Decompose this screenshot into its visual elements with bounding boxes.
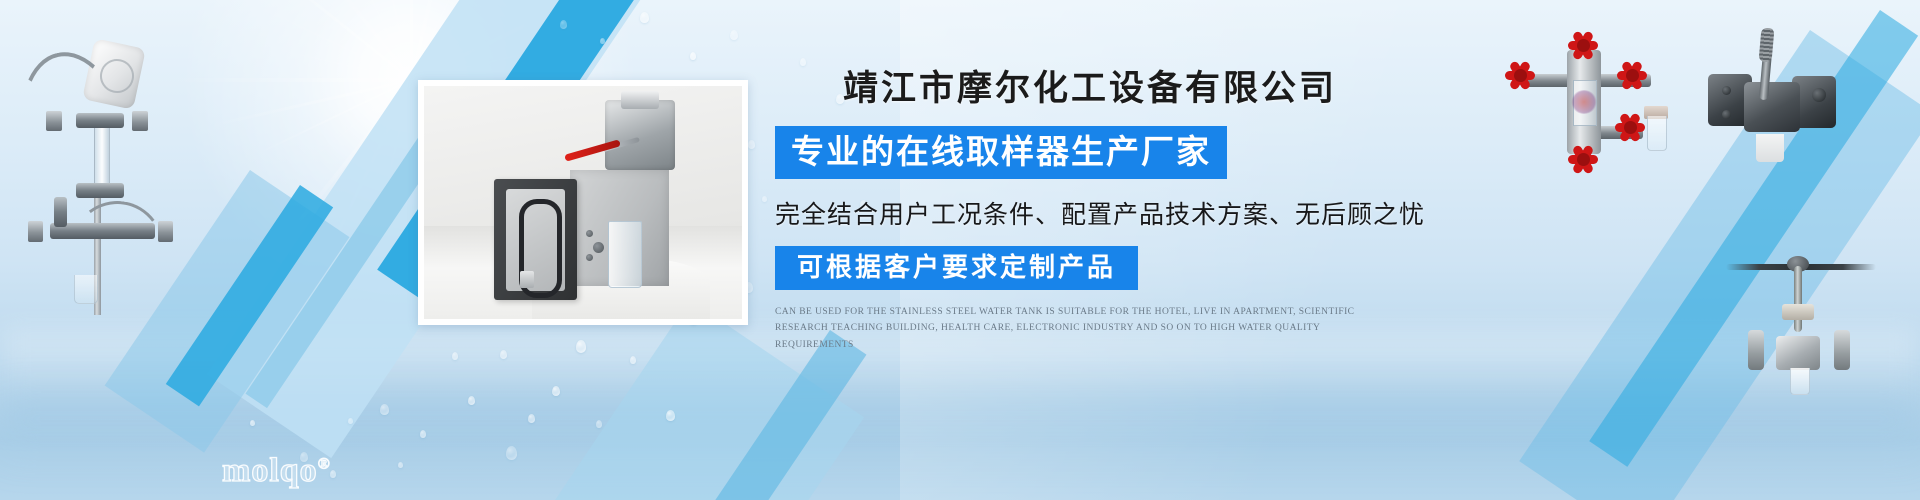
inline-valve-body <box>1776 336 1820 370</box>
water-drop <box>330 470 336 478</box>
cabinet-port-2 <box>586 254 593 261</box>
product-image-pole-sampler <box>10 25 185 315</box>
product-photo-cabinet-sampler <box>418 80 748 325</box>
tagline-badge: 可根据客户要求定制产品 <box>775 246 1138 290</box>
sun-ray <box>258 45 410 81</box>
banner-text-block: 靖江市摩尔化工设备有限公司 专业的在线取样器生产厂家 完全结合用户工况条件、配置… <box>775 70 1405 353</box>
flange-bore <box>1812 88 1826 102</box>
sun-ray <box>237 0 412 81</box>
sampler-relief-valve <box>54 197 67 227</box>
sun-ray <box>325 0 414 81</box>
water-drop <box>730 30 738 40</box>
sun-ray <box>335 0 411 80</box>
cabinet-door <box>494 179 577 300</box>
headline-badge: 专业的在线取样器生产厂家 <box>775 126 1227 179</box>
sun-ray <box>163 78 412 82</box>
sun-ray <box>363 0 412 80</box>
photo-content <box>424 86 742 319</box>
water-drop <box>398 462 403 468</box>
inline-valve-outlet-tube <box>1790 368 1810 395</box>
brand-seal-icon <box>1571 90 1597 114</box>
lever-valve-body <box>1744 82 1800 132</box>
promotional-banner: 靖江市摩尔化工设备有限公司 专业的在线取样器生产厂家 完全结合用户工况条件、配置… <box>0 0 1920 500</box>
water-drop <box>640 12 649 23</box>
lever-valve-knurled-grip <box>1759 27 1775 62</box>
company-name: 靖江市摩尔化工设备有限公司 <box>775 70 1405 109</box>
water-drop <box>690 52 696 60</box>
water-drop <box>800 58 806 66</box>
water-drop <box>748 140 755 149</box>
cabinet-port-3 <box>593 242 604 253</box>
cabinet-door-latch <box>520 271 533 288</box>
handwheel-top <box>1568 30 1598 60</box>
cabinet-sample-bottle <box>608 221 642 288</box>
sampler-sample-bottle <box>74 275 98 304</box>
flange-bolt-hole-2 <box>1722 110 1731 119</box>
lever-valve-sample-cup <box>1756 134 1784 162</box>
watermark-logo: molqo® <box>222 452 331 490</box>
sampler-flange-bottom-left <box>28 221 43 242</box>
inline-valve-wing-left <box>1748 330 1764 370</box>
sampler-flange-right <box>132 111 148 131</box>
cross-valve-sample-bottle <box>1647 116 1667 151</box>
inline-valve-collar <box>1782 304 1814 320</box>
inline-valve-stem <box>1794 266 1802 332</box>
handwheel-bottom <box>1568 144 1598 174</box>
english-description: CAN BE USED FOR THE STAINLESS STEEL WATE… <box>775 304 1385 354</box>
sub-headline: 完全结合用户工况条件、配置产品技术方案、无后顾之忧 <box>775 195 1405 231</box>
product-image-inline-valve <box>1742 228 1862 388</box>
sampling-valve-assembly <box>605 100 675 170</box>
registered-mark-icon: ® <box>318 456 331 473</box>
product-image-cross-valve <box>1505 38 1675 168</box>
handwheel-drain <box>1615 112 1645 142</box>
handwheel-left <box>1505 60 1535 90</box>
product-image-lever-valve <box>1700 30 1845 170</box>
watermark-text: molqo <box>222 452 318 489</box>
handwheel-right <box>1617 60 1647 90</box>
flange-bolt-hole-1 <box>1722 86 1731 95</box>
sampling-valve-top <box>621 91 659 110</box>
sun-ray <box>231 0 413 81</box>
inline-valve-wing-right <box>1834 330 1850 370</box>
water-drop <box>762 196 767 202</box>
